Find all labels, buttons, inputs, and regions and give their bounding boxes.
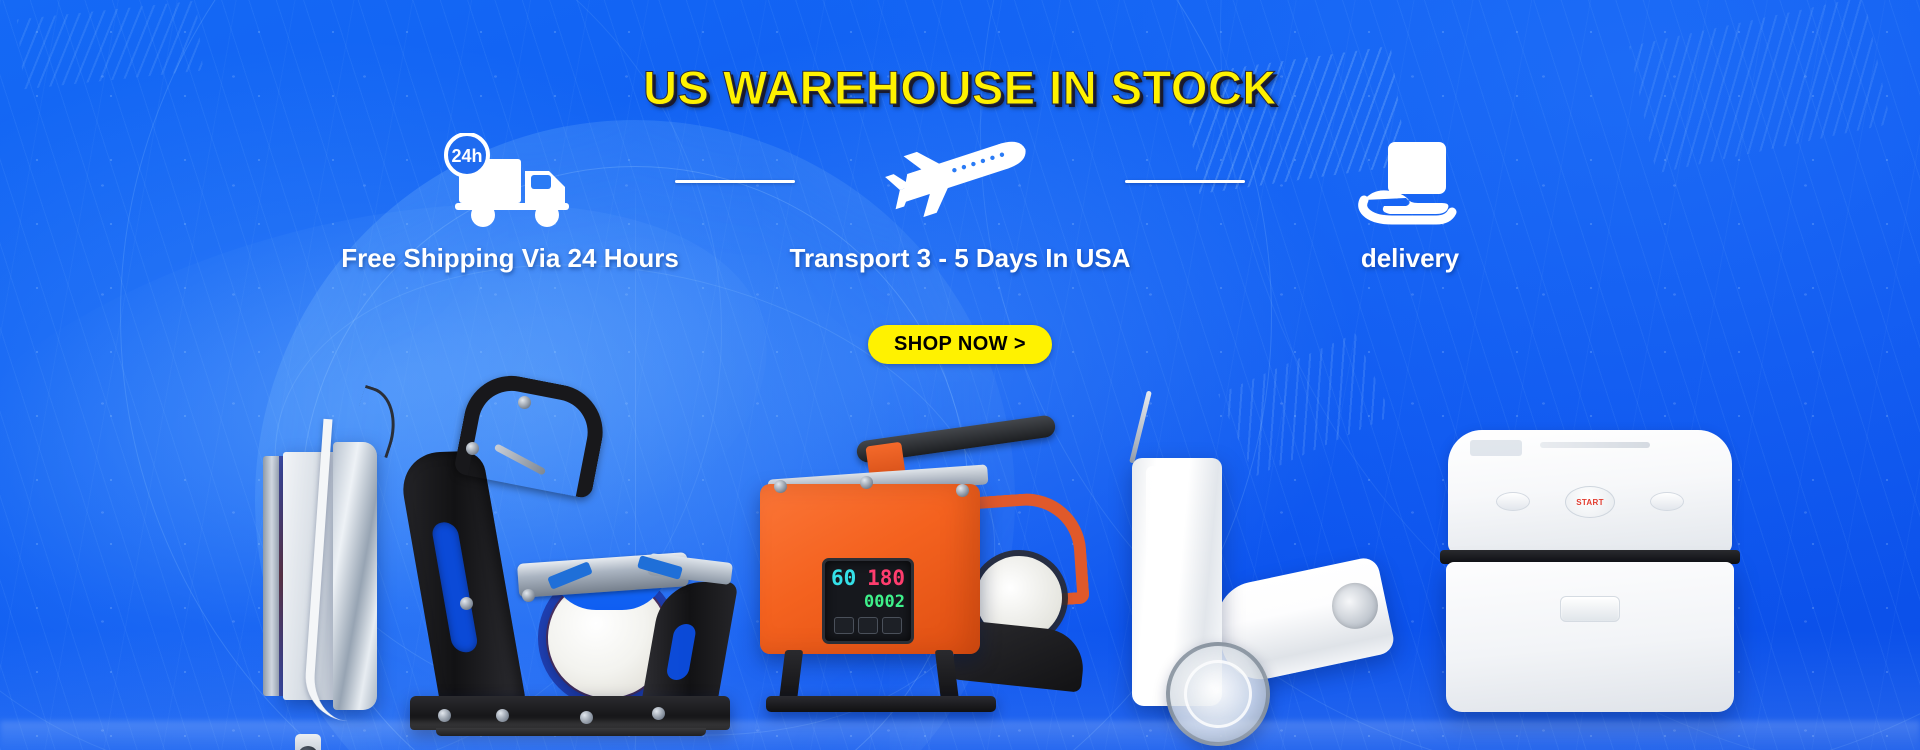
- appliance-latch: [1560, 596, 1620, 622]
- feature-free-shipping-label: Free Shipping Via 24 Hours: [341, 243, 679, 274]
- appliance-button-right: [1650, 492, 1684, 511]
- product-white-appliance: START: [1440, 430, 1740, 720]
- display-current-temp: 60: [831, 568, 856, 589]
- product-heating-element: [235, 442, 380, 732]
- feature-transport: Transport 3 - 5 Days In USA: [795, 128, 1125, 274]
- display-target-temp: 180: [867, 568, 905, 589]
- product-showcase: 60 180 0002: [0, 320, 1920, 750]
- display-button-2: [858, 617, 878, 634]
- truck-24h-icon: 24h: [435, 128, 585, 233]
- product-black-mug-press: [400, 390, 740, 730]
- product-orange-mug-press: 60 180 0002: [760, 428, 1090, 728]
- feature-free-shipping: 24h Free Shipping Via 24 Hours: [345, 128, 675, 274]
- page-title: US WAREHOUSE IN STOCK: [0, 60, 1920, 115]
- display-button-1: [834, 617, 854, 634]
- airplane-icon: [884, 128, 1036, 233]
- press-control-display: 60 180 0002: [822, 558, 914, 644]
- connector-line-1: [675, 180, 795, 183]
- connector-line-2: [1125, 180, 1245, 183]
- appliance-button-left: [1496, 492, 1530, 511]
- feature-delivery-label: delivery: [1361, 243, 1459, 274]
- feature-delivery: delivery: [1245, 128, 1575, 274]
- truck-badge-text: 24h: [451, 146, 482, 166]
- feature-transport-label: Transport 3 - 5 Days In USA: [790, 243, 1131, 274]
- promo-banner: US WAREHOUSE IN STOCK 24h: [0, 0, 1920, 750]
- appliance-start-label: START: [1576, 498, 1604, 507]
- product-tumblers: [1110, 430, 1380, 730]
- appliance-start-button: START: [1565, 486, 1615, 518]
- display-button-3: [882, 617, 902, 634]
- display-timer: 0002: [831, 594, 905, 611]
- feature-strip: 24h Free Shipping Via 24 Hours: [0, 128, 1920, 298]
- hand-package-icon: [1358, 128, 1462, 233]
